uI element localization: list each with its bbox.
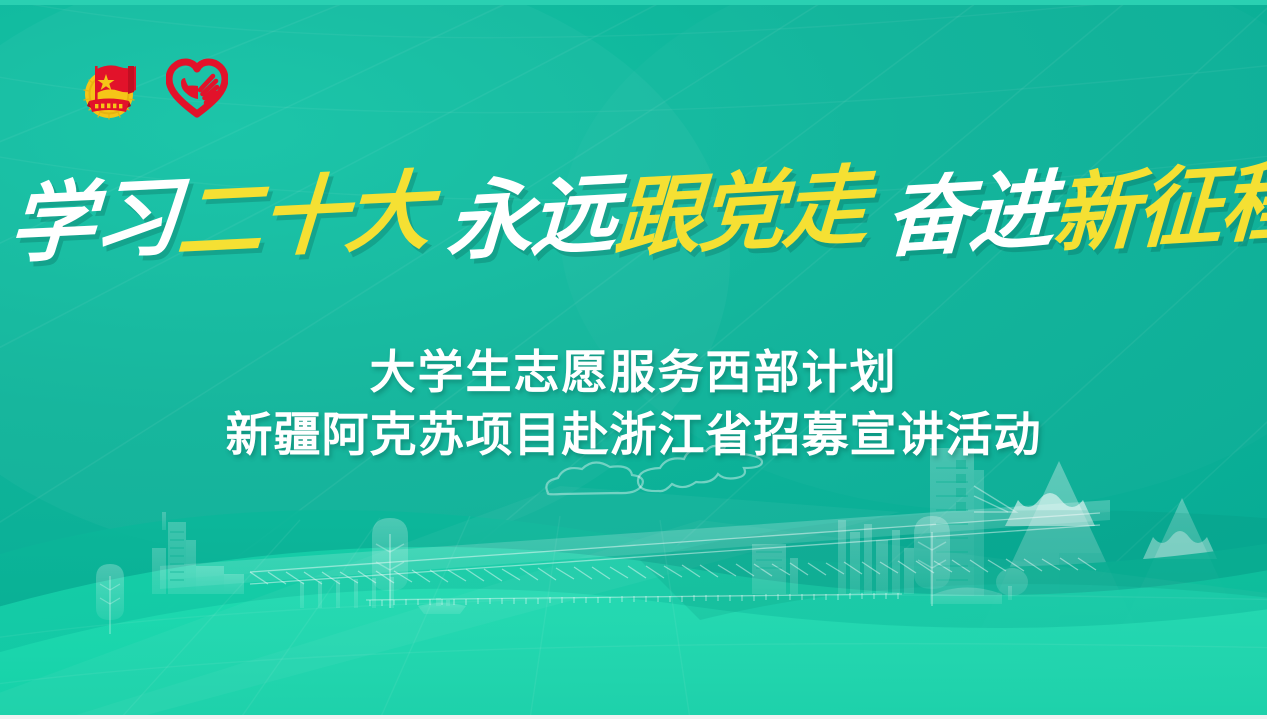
headline-seg2-white: 永远: [445, 171, 618, 266]
poster-canvas: 学习二十大永远跟党走奋进新征程 大学生志愿服务西部计划 新疆阿克苏项目赴浙江省招…: [0, 0, 1267, 719]
headline: 学习二十大永远跟党走奋进新征程: [0, 176, 1267, 262]
headline-seg1-white: 学习: [6, 175, 179, 269]
headline-seg2-yellow: 跟党走: [613, 163, 870, 263]
subtitle-line-2: 新疆阿克苏项目赴浙江省招募宣讲活动: [0, 396, 1267, 465]
volunteer-heart-hand-logo: [166, 58, 228, 118]
subtitle-line-1: 大学生志愿服务西部计划: [0, 336, 1267, 402]
headline-seg1-yellow: 二十大: [174, 168, 431, 266]
headline-seg3-white: 奋进: [883, 167, 1055, 263]
communist-youth-league-emblem: [78, 54, 140, 122]
headline-segment-1: 学习二十大: [8, 172, 430, 267]
headline-segment-3: 奋进新征程: [883, 161, 1267, 261]
emblem-row: [78, 54, 228, 122]
top-accent-strip: [0, 0, 1267, 5]
bottom-accent-strip: [0, 715, 1267, 719]
headline-segment-2: 永远跟党走: [446, 166, 868, 264]
headline-seg3-yellow: 新征程: [1051, 158, 1267, 259]
